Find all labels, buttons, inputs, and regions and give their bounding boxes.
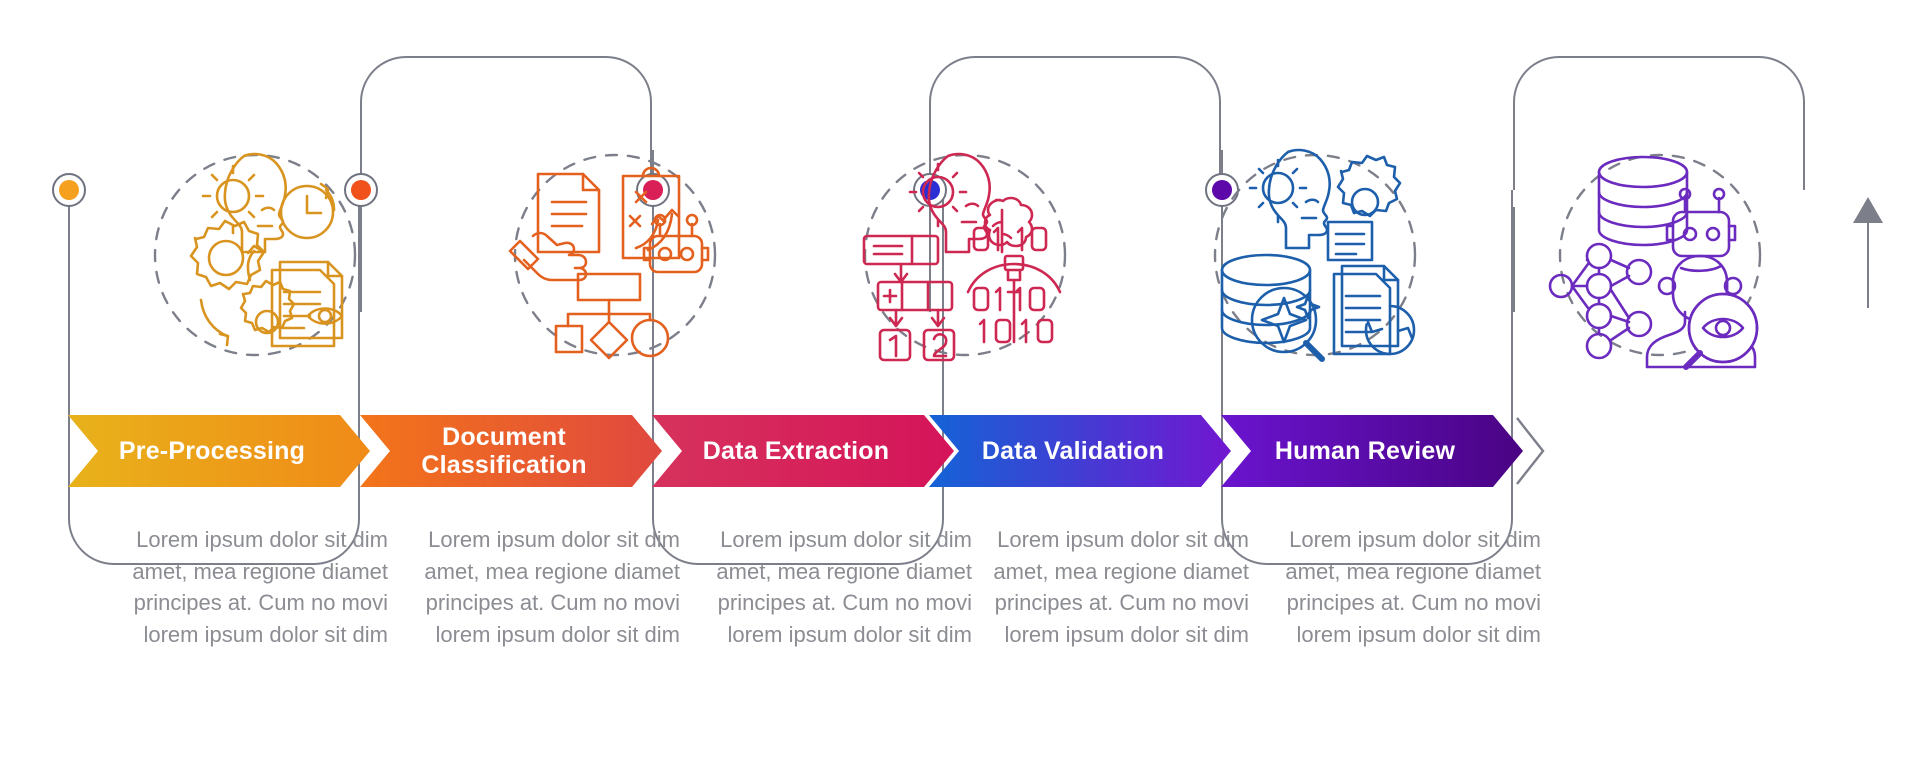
step-banner-2[interactable]: Document Classification xyxy=(360,415,662,487)
preprocessing-icon xyxy=(140,140,370,370)
step-description-2: Lorem ipsum dolor sit dim amet, mea regi… xyxy=(402,524,680,651)
timeline-dot-fill-1 xyxy=(59,180,79,200)
human-review-icon xyxy=(1545,140,1775,370)
data-validation-icon xyxy=(1200,140,1430,370)
timeline-dot-1[interactable] xyxy=(52,173,86,207)
step-banner-label-5: Human Review xyxy=(1275,437,1455,465)
step-banner-5[interactable]: Human Review xyxy=(1221,415,1523,487)
timeline-segment-11 xyxy=(1513,207,1515,312)
data-extraction-icon xyxy=(850,140,1080,370)
step-description-3: Lorem ipsum dolor sit dim amet, mea regi… xyxy=(694,524,972,651)
document-classification-icon xyxy=(500,140,730,370)
step-description-5: Lorem ipsum dolor sit dim amet, mea regi… xyxy=(1263,524,1541,651)
end-arrow-up-icon xyxy=(1853,197,1883,223)
step-banner-label-3: Data Extraction xyxy=(703,437,889,465)
step-banner-label-4: Data Validation xyxy=(982,437,1164,465)
step-banner-4[interactable]: Data Validation xyxy=(929,415,1231,487)
infographic-canvas: Pre-Processing Document Classification D… xyxy=(0,0,1920,761)
timeline-segment-10 xyxy=(1513,150,1515,190)
timeline-segment-1 xyxy=(68,190,70,312)
step-banner-1[interactable]: Pre-Processing xyxy=(68,415,370,487)
timeline-end-stem xyxy=(1867,223,1869,308)
step-banner-3[interactable]: Data Extraction xyxy=(652,415,954,487)
step-banner-label-2: Document Classification xyxy=(390,423,618,479)
step-description-4: Lorem ipsum dolor sit dim amet, mea regi… xyxy=(971,524,1249,651)
step-banner-label-1: Pre-Processing xyxy=(119,437,305,465)
step-description-1: Lorem ipsum dolor sit dim amet, mea regi… xyxy=(110,524,388,651)
